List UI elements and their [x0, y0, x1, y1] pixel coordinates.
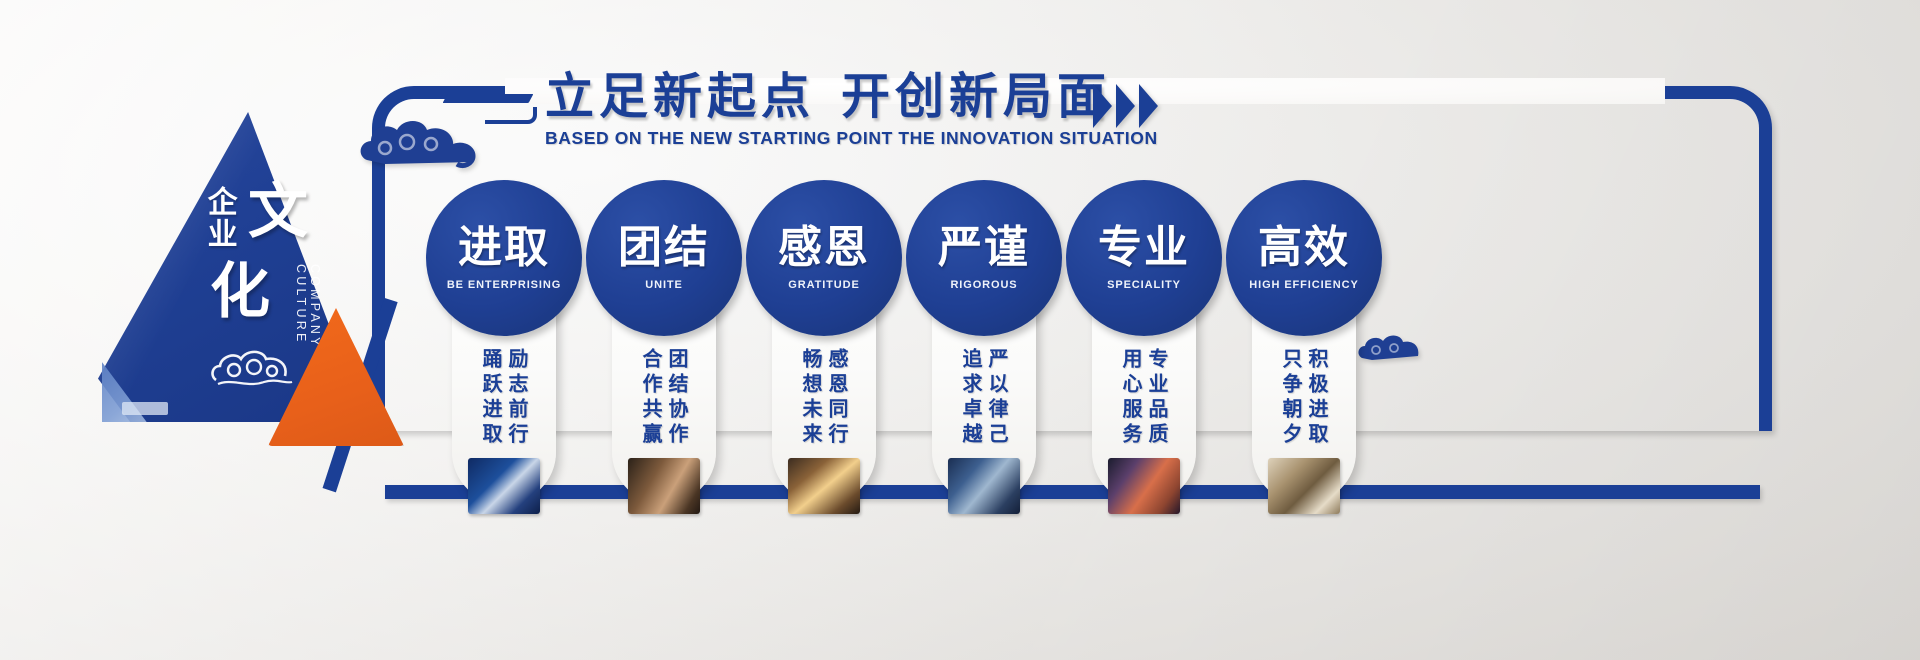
headline-block: 立足新起点开创新局面 BASED ON THE NEW STARTING POI…	[545, 68, 1105, 149]
value-pill-gratitude[interactable]: 感恩 GRATITUDE 感恩同行 畅想未来	[772, 196, 876, 504]
value-pill-rigorous[interactable]: 严谨 RIGOROUS 严以律己 追求卓越	[932, 196, 1036, 504]
photo-efficiency	[1268, 458, 1340, 514]
pill-title-en: HIGH EFFICIENCY	[1249, 279, 1358, 291]
chevron-group	[1093, 84, 1158, 128]
pill-phrase-right: 团结协作	[667, 348, 687, 448]
logo-text-wen: 文	[248, 182, 308, 242]
pill-title-en: GRATITUDE	[788, 279, 859, 291]
photo-unite	[628, 458, 700, 514]
pill-phrase-group: 专业品质 用心服务	[1092, 348, 1196, 448]
pill-title-cn: 进取	[458, 226, 550, 270]
pill-phrase-left: 畅想未来	[801, 348, 821, 448]
pill-title-cn: 严谨	[938, 226, 1030, 270]
frame-bottom-bar	[385, 485, 1760, 499]
pill-badge: 高效 HIGH EFFICIENCY	[1226, 180, 1382, 336]
logo-small-brandmark	[122, 402, 168, 415]
value-pill-enterprising[interactable]: 进取 BE ENTERPRISING 励志前行 踊跃进取	[452, 196, 556, 504]
logo-cloud-icon	[208, 340, 298, 388]
pill-badge: 感恩 GRATITUDE	[746, 180, 902, 336]
chevron-right-icon	[1116, 84, 1135, 128]
chevron-right-icon	[1139, 84, 1158, 128]
value-pill-speciality[interactable]: 专业 SPECIALITY 专业品质 用心服务	[1092, 196, 1196, 504]
pill-phrase-right: 专业品质	[1147, 348, 1167, 448]
headline-chinese-right: 开创新局面	[841, 68, 1111, 125]
pill-phrase-group: 严以律己 追求卓越	[932, 348, 1036, 448]
pill-title-en: SPECIALITY	[1107, 279, 1181, 291]
value-pill-unite[interactable]: 团结 UNITE 团结协作 合作共赢	[612, 196, 716, 504]
pill-phrase-right: 严以律己	[987, 348, 1007, 448]
pill-title-cn: 专业	[1098, 226, 1190, 270]
pill-badge: 严谨 RIGOROUS	[906, 180, 1062, 336]
pill-title-cn: 感恩	[778, 226, 870, 270]
culture-wall-stage: 立足新起点开创新局面 BASED ON THE NEW STARTING POI…	[0, 0, 1920, 660]
cloud-ornament-icon	[355, 108, 485, 174]
pill-phrase-group: 团结协作 合作共赢	[612, 348, 716, 448]
pill-badge: 专业 SPECIALITY	[1066, 180, 1222, 336]
pill-badge: 进取 BE ENTERPRISING	[426, 180, 582, 336]
pill-phrase-group: 励志前行 踊跃进取	[452, 348, 556, 448]
pill-phrase-left: 合作共赢	[641, 348, 661, 448]
logo-text-qiye: 企业	[202, 186, 236, 250]
chevron-right-icon	[1093, 84, 1112, 128]
headline-chinese: 立足新起点开创新局面	[545, 68, 1105, 126]
pill-badge: 团结 UNITE	[586, 180, 742, 336]
photo-gratitude	[788, 458, 860, 514]
pill-title-en: RIGOROUS	[950, 279, 1017, 291]
pill-phrase-left: 只争朝夕	[1281, 348, 1301, 448]
photo-speciality	[1108, 458, 1180, 514]
photo-enterprising	[468, 458, 540, 514]
pill-phrase-left: 踊跃进取	[481, 348, 501, 448]
pill-phrase-group: 积极进取 只争朝夕	[1252, 348, 1356, 448]
value-pill-efficiency[interactable]: 高效 HIGH EFFICIENCY 积极进取 只争朝夕	[1252, 196, 1356, 504]
pill-title-cn: 团结	[618, 226, 710, 270]
cloud-ornament-right-icon	[1356, 330, 1424, 366]
pill-title-cn: 高效	[1258, 226, 1350, 270]
headline-english: BASED ON THE NEW STARTING POINT THE INNO…	[545, 128, 1105, 149]
photo-rigorous	[948, 458, 1020, 514]
logo-text-hua: 化	[210, 262, 270, 322]
pill-phrase-group: 感恩同行 畅想未来	[772, 348, 876, 448]
pill-phrase-right: 积极进取	[1307, 348, 1327, 448]
pill-phrase-right: 感恩同行	[827, 348, 847, 448]
pill-phrase-left: 用心服务	[1121, 348, 1141, 448]
pill-title-en: BE ENTERPRISING	[447, 279, 561, 291]
pill-phrase-left: 追求卓越	[961, 348, 981, 448]
pill-phrase-right: 励志前行	[507, 348, 527, 448]
headline-chinese-left: 立足新起点	[545, 68, 815, 125]
pill-title-en: UNITE	[645, 279, 683, 291]
